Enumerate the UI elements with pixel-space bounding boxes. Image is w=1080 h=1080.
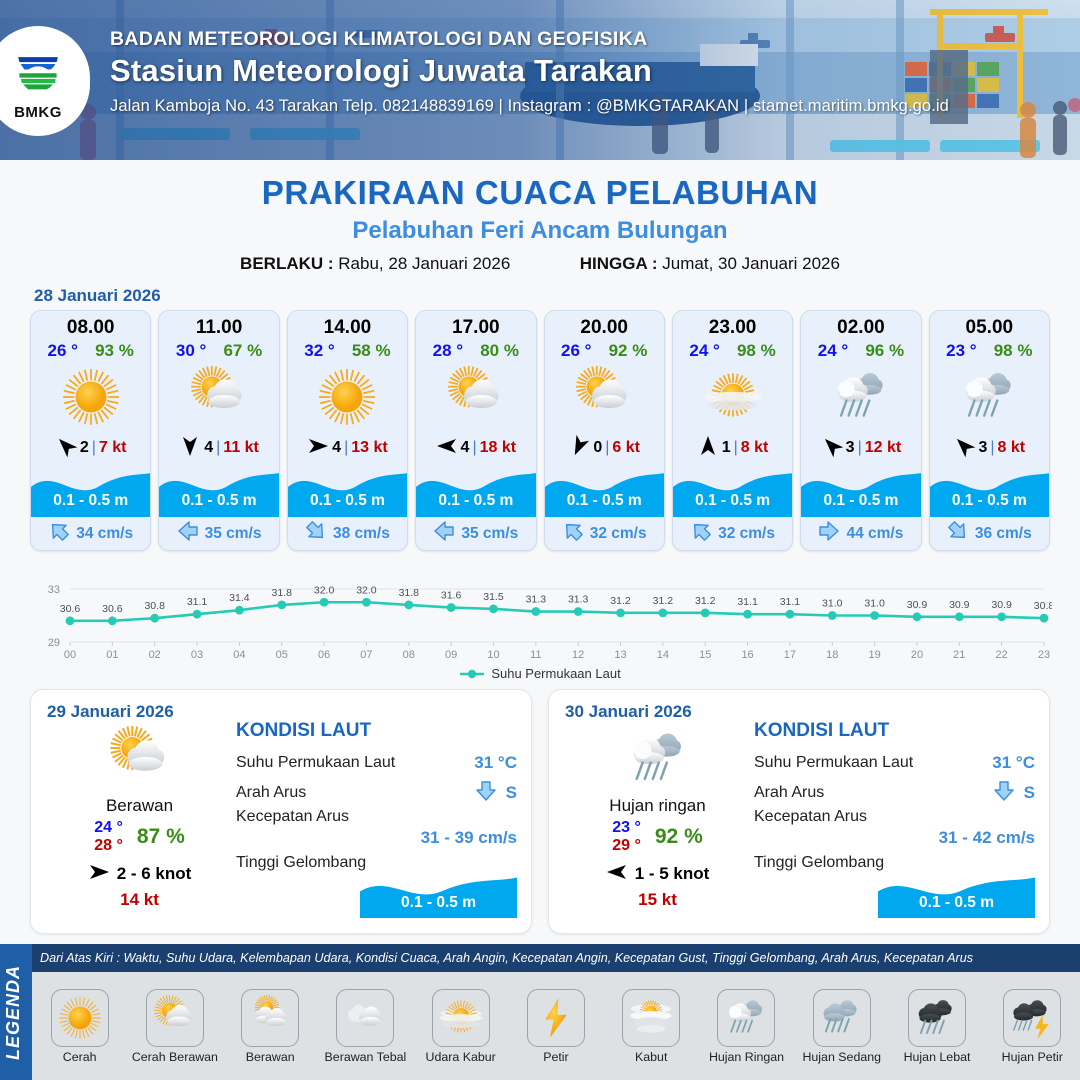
legend-item: Udara Kabur <box>417 989 505 1064</box>
berlaku-value: Rabu, 28 Januari 2026 <box>338 254 510 273</box>
legend-item-label: Cerah Berawan <box>131 1050 219 1064</box>
day-date: 29 Januari 2026 <box>47 702 515 722</box>
card-wave: 0.1 - 0.5 m <box>930 465 1049 517</box>
sea-row-value: 31 - 39 cm/s <box>236 828 517 848</box>
svg-text:31.8: 31.8 <box>272 587 293 599</box>
overcast-icon <box>336 989 394 1047</box>
legend-item: Hujan Lebat <box>893 989 981 1064</box>
sea-row: Arah Arus S <box>236 778 517 808</box>
sst-chart: 293330.630.630.831.131.431.832.032.031.8… <box>28 559 1052 664</box>
legend-note: Dari Atas Kiri : Waktu, Suhu Udara, Kele… <box>32 944 1080 972</box>
sea-row-value: 31 °C <box>992 753 1035 773</box>
card-wind-direction: 3 <box>978 439 987 457</box>
legend-item-label: Udara Kabur <box>417 1050 505 1064</box>
validity-line: BERLAKU : Rabu, 28 Januari 2026 HINGGA :… <box>0 254 1080 274</box>
sea-row-label: Kecepatan Arus <box>236 808 349 825</box>
card-temperature: 28 ° <box>433 341 463 361</box>
sea-row: Suhu Permukaan Laut 31 °C <box>236 748 517 778</box>
sea-row-label: Kecepatan Arus <box>754 808 867 825</box>
lightning-icon <box>527 989 585 1047</box>
svg-text:11: 11 <box>530 649 541 661</box>
card-gust: 12 kt <box>865 439 901 457</box>
card-temp-hum: 32 ° 58 % <box>288 340 407 361</box>
card-current: 35 cm/s <box>159 517 278 550</box>
svg-text:17: 17 <box>784 649 796 661</box>
agency-name: BADAN METEOROLOGI KLIMATOLOGI DAN GEOFIS… <box>110 28 949 51</box>
partly-cloudy-icon <box>47 726 232 792</box>
bmkg-logo-text: BMKG <box>14 104 62 121</box>
card-current: 44 cm/s <box>801 517 920 550</box>
arrow-down-icon <box>475 781 497 806</box>
svg-text:31.2: 31.2 <box>695 595 716 607</box>
day-summary: Hujan ringan 23 ° 29 ° 92 % 1 - 5 knot 1… <box>565 726 750 910</box>
legend-item: Kabut <box>607 989 695 1064</box>
wind-direction-arrow-icon <box>179 435 201 462</box>
partly-cloudy-icon <box>416 361 535 433</box>
heavy-rain-icon <box>908 989 966 1047</box>
card-gust: 8 kt <box>741 439 769 457</box>
card-wind: 0 | 6 kt <box>545 433 664 463</box>
card-humidity: 96 % <box>865 341 904 361</box>
wind-separator: | <box>344 439 348 457</box>
sea-row-label: Arah Arus <box>236 784 306 802</box>
card-time: 11.00 <box>159 311 278 340</box>
day-wind: 2 - 6 knot <box>47 861 232 888</box>
day-summary: Berawan 24 ° 28 ° 87 % 2 - 6 knot 14 kt <box>47 726 232 910</box>
card-temp-hum: 28 ° 80 % <box>416 340 535 361</box>
forecast-card[interactable]: 17.00 28 ° 80 % 4 | 18 kt 0.1 - 0.5 m 35… <box>415 310 536 551</box>
current-direction-arrow-icon <box>48 521 70 546</box>
daily-forecast-row: 29 Januari 2026 Berawan 24 ° 28 ° 87 % 2… <box>0 681 1080 934</box>
svg-text:30.9: 30.9 <box>991 599 1012 611</box>
card-wind: 4 | 11 kt <box>159 433 278 463</box>
current-direction-arrow-icon <box>818 521 840 546</box>
card-humidity: 98 % <box>994 341 1033 361</box>
card-wind: 1 | 8 kt <box>673 433 792 463</box>
card-wind-direction: 0 <box>593 439 602 457</box>
svg-text:08: 08 <box>403 649 415 661</box>
svg-text:21: 21 <box>953 649 965 661</box>
svg-text:06: 06 <box>318 649 330 661</box>
svg-text:30.6: 30.6 <box>60 603 81 615</box>
day-date: 30 Januari 2026 <box>565 702 1033 722</box>
light-rain-icon <box>565 726 750 792</box>
light-rain-icon <box>801 361 920 433</box>
hingga-label: HINGGA : <box>580 254 658 273</box>
card-wind-direction: 2 <box>80 439 89 457</box>
card-wind: 2 | 7 kt <box>31 433 150 463</box>
legend-item: Hujan Ringan <box>702 989 790 1064</box>
sea-row-value: S <box>1024 783 1035 803</box>
current-direction-arrow-icon <box>177 521 199 546</box>
card-time: 05.00 <box>930 311 1049 340</box>
svg-text:14: 14 <box>657 649 669 661</box>
card-current: 32 cm/s <box>545 517 664 550</box>
legend-item-label: Hujan Petir <box>988 1050 1076 1064</box>
card-wave-height: 0.1 - 0.5 m <box>159 492 278 510</box>
svg-text:31.1: 31.1 <box>780 596 801 608</box>
legend-item: Hujan Petir <box>988 989 1076 1064</box>
card-humidity: 58 % <box>352 341 391 361</box>
svg-text:31.1: 31.1 <box>187 596 208 608</box>
partly-cloudy-icon <box>545 361 664 433</box>
day-wave-height: 0.1 - 0.5 m <box>360 894 517 912</box>
card-wave: 0.1 - 0.5 m <box>801 465 920 517</box>
light-rain-icon <box>717 989 775 1047</box>
card-wave-height: 0.1 - 0.5 m <box>288 492 407 510</box>
day-gust: 14 kt <box>47 890 232 910</box>
svg-text:16: 16 <box>741 649 753 661</box>
card-humidity: 92 % <box>609 341 648 361</box>
card-gust: 11 kt <box>223 439 259 457</box>
card-wind: 4 | 13 kt <box>288 433 407 463</box>
card-temperature: 32 ° <box>304 341 334 361</box>
legend-item: Cerah Berawan <box>131 989 219 1064</box>
wind-direction-arrow-icon <box>436 435 458 462</box>
day-wind: 1 - 5 knot <box>565 861 750 888</box>
card-gust: 7 kt <box>99 439 127 457</box>
card-current-speed: 35 cm/s <box>461 525 518 543</box>
svg-text:31.8: 31.8 <box>399 587 420 599</box>
svg-text:30.8: 30.8 <box>1034 600 1052 612</box>
legend-item: Cerah <box>36 989 124 1064</box>
current-direction-arrow-icon <box>305 521 327 546</box>
page-subtitle: Pelabuhan Feri Ancam Bulungan <box>0 217 1080 245</box>
card-time: 17.00 <box>416 311 535 340</box>
wind-direction-arrow-icon <box>821 435 843 462</box>
card-temperature: 23 ° <box>946 341 976 361</box>
legend-item: Berawan <box>226 989 314 1064</box>
svg-text:19: 19 <box>868 649 880 661</box>
legend-icon-list: Cerah Cerah Berawan Berawan Berawan Teba… <box>32 972 1080 1080</box>
hazy-sun-icon <box>673 361 792 433</box>
forecast-card[interactable]: 11.00 30 ° 67 % 4 | 11 kt 0.1 - 0.5 m 35… <box>158 310 279 551</box>
sea-row-value: 31 - 42 cm/s <box>754 828 1035 848</box>
legend-item: Berawan Tebal <box>321 989 409 1064</box>
svg-text:07: 07 <box>360 649 372 661</box>
svg-text:15: 15 <box>699 649 711 661</box>
day-humidity: 87 % <box>137 825 185 849</box>
day-condition: Berawan <box>47 796 232 816</box>
card-current: 32 cm/s <box>673 517 792 550</box>
svg-text:02: 02 <box>149 649 161 661</box>
bmkg-logo-icon <box>7 41 69 103</box>
card-wave: 0.1 - 0.5 m <box>159 465 278 517</box>
infographic-page: BMKG BADAN METEOROLOGI KLIMATOLOGI DAN G… <box>0 0 1080 1080</box>
card-temperature: 24 ° <box>818 341 848 361</box>
card-time: 23.00 <box>673 311 792 340</box>
card-current: 34 cm/s <box>31 517 150 550</box>
sea-row: Arah Arus S <box>754 778 1035 808</box>
light-rain-icon <box>930 361 1049 433</box>
card-wind-direction: 4 <box>461 439 470 457</box>
day-gust: 15 kt <box>565 890 750 910</box>
wind-separator: | <box>858 439 862 457</box>
svg-text:30.9: 30.9 <box>949 599 970 611</box>
thunderstorm-icon <box>1003 989 1061 1047</box>
svg-text:13: 13 <box>614 649 626 661</box>
arrow-down-icon <box>993 781 1015 806</box>
wind-direction-arrow-icon <box>307 435 329 462</box>
svg-text:18: 18 <box>826 649 838 661</box>
sea-row: Kecepatan Arus 31 - 39 cm/s <box>236 808 517 848</box>
current-direction-arrow-icon <box>690 521 712 546</box>
card-temp-hum: 24 ° 96 % <box>801 340 920 361</box>
day-humidity: 92 % <box>655 825 703 849</box>
forecast-card[interactable]: 08.00 26 ° 93 % 2 | 7 kt 0.1 - 0.5 m 34 … <box>30 310 151 551</box>
day-wave-height: 0.1 - 0.5 m <box>878 894 1035 912</box>
sea-row-value: 31 °C <box>474 753 517 773</box>
legend-item-label: Hujan Lebat <box>893 1050 981 1064</box>
current-direction-arrow-icon <box>562 521 584 546</box>
svg-text:30.8: 30.8 <box>144 600 165 612</box>
day-condition: Hujan ringan <box>565 796 750 816</box>
day-temp-min: 23 ° <box>612 819 641 836</box>
hazy-sun-icon <box>432 989 490 1047</box>
wind-separator: | <box>92 439 96 457</box>
svg-text:31.5: 31.5 <box>483 591 504 603</box>
card-current-speed: 32 cm/s <box>590 525 647 543</box>
svg-text:31.6: 31.6 <box>441 590 462 602</box>
wind-direction-arrow-icon <box>568 435 590 462</box>
sea-conditions-title: KONDISI LAUT <box>754 720 1035 742</box>
daily-forecast-panel[interactable]: 30 Januari 2026 Hujan ringan 23 ° 29 ° 9… <box>548 689 1050 934</box>
legend-bar: LEGENDA Dari Atas Kiri : Waktu, Suhu Uda… <box>0 944 1080 1080</box>
day-wind-range: 1 - 5 knot <box>635 864 710 884</box>
sea-row-value: S <box>506 783 517 803</box>
legend-side-label: LEGENDA <box>0 944 26 1080</box>
legend-marker-icon <box>459 669 485 679</box>
card-wind-direction: 1 <box>722 439 731 457</box>
station-name: Stasiun Meteorologi Juwata Tarakan <box>110 53 949 89</box>
card-wave-height: 0.1 - 0.5 m <box>801 492 920 510</box>
card-humidity: 98 % <box>737 341 776 361</box>
svg-text:22: 22 <box>996 649 1008 661</box>
card-temp-hum: 23 ° 98 % <box>930 340 1049 361</box>
sunny-icon <box>31 361 150 433</box>
card-current: 38 cm/s <box>288 517 407 550</box>
card-wave-height: 0.1 - 0.5 m <box>31 492 150 510</box>
card-wave-height: 0.1 - 0.5 m <box>545 492 664 510</box>
wind-separator: | <box>734 439 738 457</box>
card-gust: 6 kt <box>612 439 640 457</box>
card-time: 20.00 <box>545 311 664 340</box>
svg-text:33: 33 <box>48 584 60 596</box>
sea-row: Suhu Permukaan Laut 31 °C <box>754 748 1035 778</box>
legend-item: Hujan Sedang <box>798 989 886 1064</box>
legend-item-label: Petir <box>512 1050 600 1064</box>
sea-conditions: KONDISI LAUT Suhu Permukaan Laut 31 °C A… <box>236 720 517 918</box>
card-temp-hum: 26 ° 93 % <box>31 340 150 361</box>
card-temperature: 30 ° <box>176 341 206 361</box>
hingga-value: Jumat, 30 Januari 2026 <box>662 254 840 273</box>
card-wave: 0.1 - 0.5 m <box>288 465 407 517</box>
wind-separator: | <box>216 439 220 457</box>
svg-text:23: 23 <box>1038 649 1050 661</box>
card-time: 14.00 <box>288 311 407 340</box>
wind-direction-arrow-icon <box>697 435 719 462</box>
card-current-speed: 34 cm/s <box>76 525 133 543</box>
forecast-card[interactable]: 02.00 24 ° 96 % 3 | 12 kt 0.1 - 0.5 m <box>800 310 921 551</box>
header-text-block: BADAN METEOROLOGI KLIMATOLOGI DAN GEOFIS… <box>110 28 949 116</box>
svg-text:12: 12 <box>572 649 584 661</box>
chart-legend: Suhu Permukaan Laut <box>0 666 1080 681</box>
svg-text:09: 09 <box>445 649 457 661</box>
wind-separator: | <box>990 439 994 457</box>
card-temperature: 24 ° <box>689 341 719 361</box>
card-wave-height: 0.1 - 0.5 m <box>930 492 1049 510</box>
svg-text:31.3: 31.3 <box>568 594 589 606</box>
card-current-speed: 35 cm/s <box>205 525 262 543</box>
page-title: PRAKIRAAN CUACA PELABUHAN <box>0 174 1080 212</box>
forecast-card[interactable]: 14.00 32 ° 58 % 4 | 13 kt 0.1 - 0.5 m 38… <box>287 310 408 551</box>
sea-conditions: KONDISI LAUT Suhu Permukaan Laut 31 °C A… <box>754 720 1035 918</box>
svg-text:31.1: 31.1 <box>737 596 758 608</box>
card-time: 08.00 <box>31 311 150 340</box>
sea-row-label: Tinggi Gelombang <box>754 854 884 872</box>
svg-text:31.2: 31.2 <box>610 595 631 607</box>
svg-text:31.4: 31.4 <box>229 592 250 604</box>
current-direction-arrow-icon <box>433 521 455 546</box>
svg-text:30.6: 30.6 <box>102 603 123 615</box>
svg-text:32.0: 32.0 <box>314 584 335 596</box>
card-temperature: 26 ° <box>48 341 78 361</box>
wind-separator: | <box>472 439 476 457</box>
svg-text:05: 05 <box>276 649 288 661</box>
svg-text:00: 00 <box>64 649 76 661</box>
legend-item-label: Cerah <box>36 1050 124 1064</box>
page-header: BMKG BADAN METEOROLOGI KLIMATOLOGI DAN G… <box>0 0 1080 160</box>
svg-text:03: 03 <box>191 649 203 661</box>
legend-item-label: Hujan Ringan <box>702 1050 790 1064</box>
svg-text:31.0: 31.0 <box>822 598 843 610</box>
forecast-card[interactable]: 20.00 26 ° 92 % 0 | 6 kt 0.1 - 0.5 m 32 … <box>544 310 665 551</box>
wind-direction-arrow-icon <box>88 861 110 888</box>
card-gust: 8 kt <box>998 439 1026 457</box>
card-current-speed: 36 cm/s <box>975 525 1032 543</box>
card-gust: 18 kt <box>480 439 516 457</box>
wind-direction-arrow-icon <box>606 861 628 888</box>
card-wind: 4 | 18 kt <box>416 433 535 463</box>
day-temp-hum: 23 ° 29 ° 92 % <box>565 819 750 855</box>
daily-forecast-panel[interactable]: 29 Januari 2026 Berawan 24 ° 28 ° 87 % 2… <box>30 689 532 934</box>
forecast-date-label: 28 Januari 2026 <box>34 286 1080 306</box>
legend-item-label: Berawan <box>226 1050 314 1064</box>
card-current-speed: 44 cm/s <box>846 525 903 543</box>
hourly-forecast-row: 08.00 26 ° 93 % 2 | 7 kt 0.1 - 0.5 m 34 … <box>0 310 1080 551</box>
card-time: 02.00 <box>801 311 920 340</box>
wind-direction-arrow-icon <box>953 435 975 462</box>
sunny-icon <box>51 989 109 1047</box>
legend-item-label: Berawan Tebal <box>321 1050 409 1064</box>
chart-legend-label: Suhu Permukaan Laut <box>491 666 620 681</box>
card-wave: 0.1 - 0.5 m <box>416 465 535 517</box>
legend-item-label: Hujan Sedang <box>798 1050 886 1064</box>
card-wind-direction: 4 <box>204 439 213 457</box>
svg-text:29: 29 <box>48 637 60 649</box>
day-wave: 0.1 - 0.5 m <box>878 872 1035 918</box>
wind-direction-arrow-icon <box>55 435 77 462</box>
sea-row-label: Suhu Permukaan Laut <box>236 754 395 772</box>
day-temp-max: 29 ° <box>612 837 641 854</box>
card-wave-height: 0.1 - 0.5 m <box>416 492 535 510</box>
forecast-card[interactable]: 23.00 24 ° 98 % 1 | 8 kt 0.1 - 0.5 m 32 … <box>672 310 793 551</box>
svg-text:32.0: 32.0 <box>356 584 377 596</box>
card-wave: 0.1 - 0.5 m <box>673 465 792 517</box>
legend-item-label: Kabut <box>607 1050 695 1064</box>
card-current: 35 cm/s <box>416 517 535 550</box>
card-gust: 13 kt <box>351 439 387 457</box>
card-humidity: 80 % <box>480 341 519 361</box>
partly-cloudy-icon <box>159 361 278 433</box>
svg-text:04: 04 <box>233 649 245 661</box>
svg-text:30.9: 30.9 <box>907 599 928 611</box>
sea-conditions-title: KONDISI LAUT <box>236 720 517 742</box>
card-wave: 0.1 - 0.5 m <box>31 465 150 517</box>
card-humidity: 93 % <box>95 341 134 361</box>
sea-row-label: Arah Arus <box>754 784 824 802</box>
card-wave: 0.1 - 0.5 m <box>545 465 664 517</box>
wind-separator: | <box>605 439 609 457</box>
card-current-speed: 32 cm/s <box>718 525 775 543</box>
card-wind-direction: 4 <box>332 439 341 457</box>
day-wind-range: 2 - 6 knot <box>117 864 192 884</box>
card-temp-hum: 24 ° 98 % <box>673 340 792 361</box>
day-temp-max: 28 ° <box>94 837 123 854</box>
berlaku-label: BERLAKU : <box>240 254 334 273</box>
moderate-rain-icon <box>813 989 871 1047</box>
svg-text:31.2: 31.2 <box>653 595 674 607</box>
day-wave: 0.1 - 0.5 m <box>360 872 517 918</box>
day-temp-min: 24 ° <box>94 819 123 836</box>
title-block: PRAKIRAAN CUACA PELABUHAN Pelabuhan Feri… <box>0 174 1080 274</box>
svg-text:10: 10 <box>487 649 499 661</box>
card-temp-hum: 30 ° 67 % <box>159 340 278 361</box>
card-current: 36 cm/s <box>930 517 1049 550</box>
current-direction-arrow-icon <box>947 521 969 546</box>
cloudy-sun-icon <box>241 989 299 1047</box>
contact-line: Jalan Kamboja No. 43 Tarakan Telp. 08214… <box>110 97 949 116</box>
svg-text:20: 20 <box>911 649 923 661</box>
day-temp-hum: 24 ° 28 ° 87 % <box>47 819 232 855</box>
card-wind: 3 | 12 kt <box>801 433 920 463</box>
legend-item: Petir <box>512 989 600 1064</box>
card-wave-height: 0.1 - 0.5 m <box>673 492 792 510</box>
card-wind-direction: 3 <box>846 439 855 457</box>
svg-text:31.3: 31.3 <box>526 594 547 606</box>
fog-icon <box>622 989 680 1047</box>
card-current-speed: 38 cm/s <box>333 525 390 543</box>
card-temperature: 26 ° <box>561 341 591 361</box>
card-wind: 3 | 8 kt <box>930 433 1049 463</box>
card-temp-hum: 26 ° 92 % <box>545 340 664 361</box>
forecast-card[interactable]: 05.00 23 ° 98 % 3 | 8 kt 0.1 - 0.5 m <box>929 310 1050 551</box>
svg-text:31.0: 31.0 <box>864 598 885 610</box>
card-humidity: 67 % <box>223 341 262 361</box>
partly-cloudy-icon <box>146 989 204 1047</box>
sea-row-label: Suhu Permukaan Laut <box>754 754 913 772</box>
svg-text:01: 01 <box>106 649 118 661</box>
sea-row: Kecepatan Arus 31 - 42 cm/s <box>754 808 1035 848</box>
sunny-icon <box>288 361 407 433</box>
sea-row-label: Tinggi Gelombang <box>236 854 366 872</box>
